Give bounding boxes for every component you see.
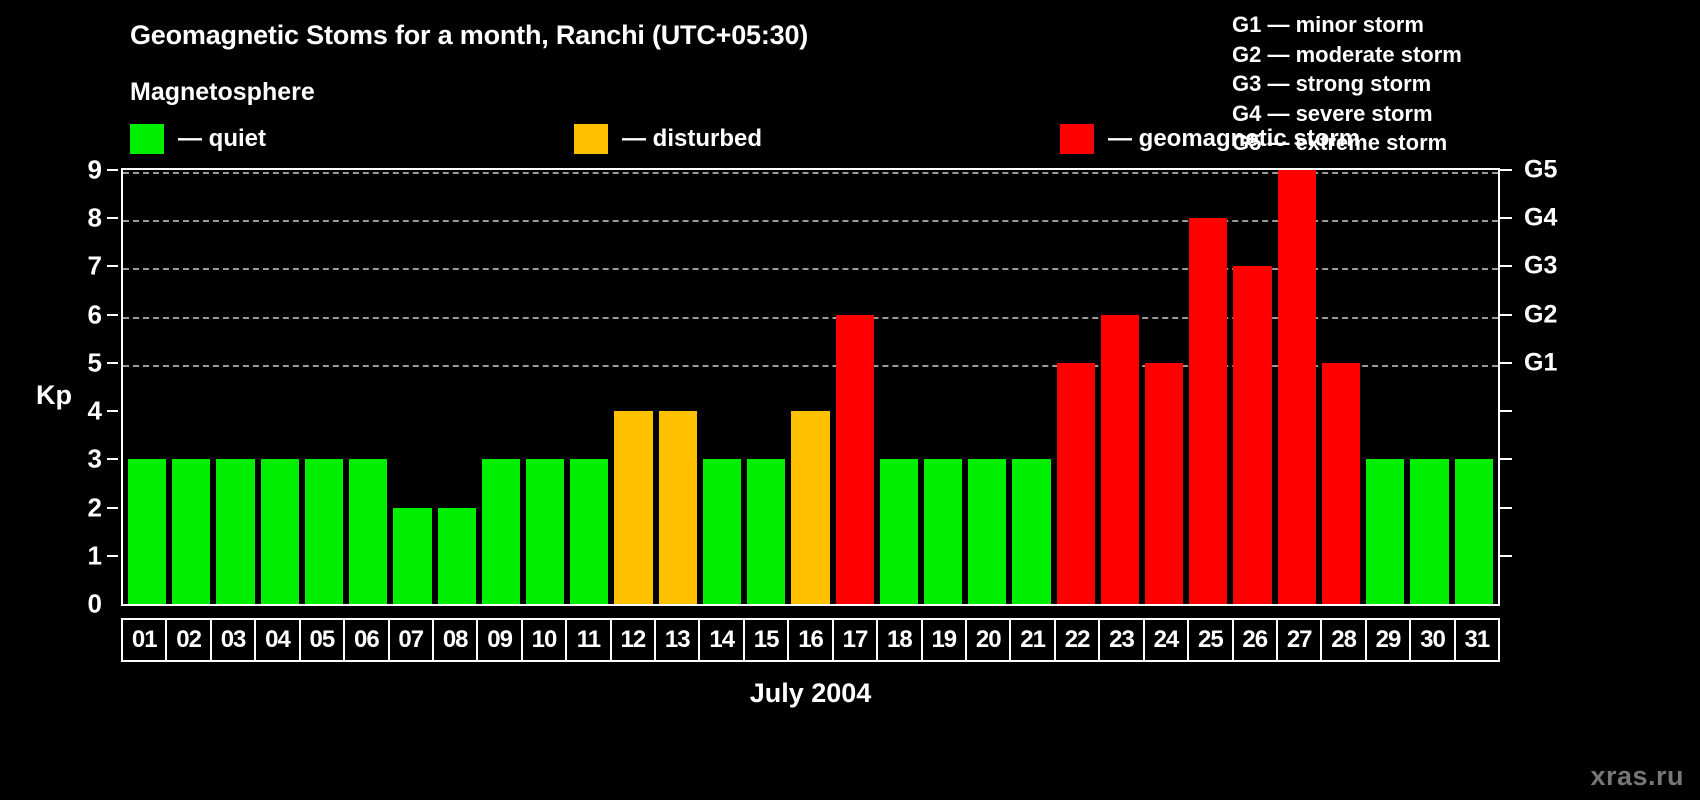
bar-day-23[interactable]: [1101, 315, 1139, 604]
bar-slot[interactable]: [1054, 170, 1098, 604]
y-tick-label-0: 0: [62, 589, 102, 620]
day-label-15[interactable]: 15: [745, 620, 789, 660]
bar-day-03[interactable]: [216, 459, 254, 604]
magnetosphere-label: Magnetosphere: [130, 78, 315, 107]
bar-day-21[interactable]: [1012, 459, 1050, 604]
bar-day-22[interactable]: [1057, 363, 1095, 604]
bar-day-01[interactable]: [128, 459, 166, 604]
storm-swatch: [1060, 124, 1094, 154]
day-label-20[interactable]: 20: [967, 620, 1011, 660]
y-tick-label-9: 9: [62, 155, 102, 186]
day-label-02[interactable]: 02: [167, 620, 211, 660]
day-label-16[interactable]: 16: [789, 620, 833, 660]
bar-day-20[interactable]: [968, 459, 1006, 604]
day-label-13[interactable]: 13: [656, 620, 700, 660]
y-tick-mark-7: [107, 265, 118, 267]
bar-day-30[interactable]: [1410, 459, 1448, 604]
bar-slot[interactable]: [1407, 170, 1451, 604]
bar-slot[interactable]: [788, 170, 832, 604]
plot-inner: [123, 170, 1498, 604]
day-label-24[interactable]: 24: [1145, 620, 1189, 660]
legend-item-disturbed: — disturbed: [574, 122, 762, 156]
bar-day-27[interactable]: [1278, 170, 1316, 604]
x-axis-days: 0102030405060708091011121314151617181920…: [121, 618, 1500, 662]
gscale-row-g5: G5 — extreme storm: [1232, 128, 1662, 158]
x-axis-label: July 2004: [121, 678, 1500, 709]
bar-slot[interactable]: [1230, 170, 1274, 604]
bar-day-06[interactable]: [349, 459, 387, 604]
bar-day-13[interactable]: [659, 411, 697, 604]
bar-slot[interactable]: [700, 170, 744, 604]
gscale-row-g2: G2 — moderate storm: [1232, 40, 1662, 70]
y-tick-mark-2: [107, 507, 118, 509]
day-label-26[interactable]: 26: [1234, 620, 1278, 660]
bar-slot[interactable]: [1186, 170, 1230, 604]
y-tick-label-6: 6: [62, 299, 102, 330]
bar-slot[interactable]: [125, 170, 169, 604]
day-label-11[interactable]: 11: [567, 620, 611, 660]
bar-slot[interactable]: [1319, 170, 1363, 604]
y-tick-label-2: 2: [62, 492, 102, 523]
bar-day-17[interactable]: [836, 315, 874, 604]
day-label-21[interactable]: 21: [1011, 620, 1055, 660]
bar-day-02[interactable]: [172, 459, 210, 604]
y-tick-mark-4: [107, 410, 118, 412]
disturbed-swatch: [574, 124, 608, 154]
bar-day-26[interactable]: [1233, 266, 1271, 604]
g-axis-tick-mark-kp-9: [1500, 169, 1512, 171]
y-tick-label-5: 5: [62, 347, 102, 378]
bar-slot[interactable]: [390, 170, 434, 604]
day-label-01[interactable]: 01: [123, 620, 167, 660]
g-axis-tick-mark-kp-4: [1500, 410, 1512, 412]
bar-slot[interactable]: [1452, 170, 1496, 604]
y-axis-label: Kp: [36, 380, 72, 411]
day-label-29[interactable]: 29: [1367, 620, 1411, 660]
day-label-09[interactable]: 09: [478, 620, 522, 660]
bar-day-28[interactable]: [1322, 363, 1360, 604]
y-tick-label-3: 3: [62, 444, 102, 475]
bar-day-10[interactable]: [526, 459, 564, 604]
bar-slot[interactable]: [523, 170, 567, 604]
y-tick-mark-5: [107, 362, 118, 364]
day-label-04[interactable]: 04: [256, 620, 300, 660]
g-axis-tick-mark-kp-3: [1500, 458, 1512, 460]
day-label-18[interactable]: 18: [878, 620, 922, 660]
day-label-12[interactable]: 12: [612, 620, 656, 660]
gscale-legend: G1 — minor stormG2 — moderate stormG3 — …: [1232, 10, 1662, 158]
day-label-28[interactable]: 28: [1322, 620, 1366, 660]
bar-day-11[interactable]: [570, 459, 608, 604]
day-label-17[interactable]: 17: [834, 620, 878, 660]
page-title: Geomagnetic Stoms for a month, Ranchi (U…: [130, 20, 808, 51]
y-tick-mark-3: [107, 458, 118, 460]
y-tick-mark-9: [107, 169, 118, 171]
y-tick-label-1: 1: [62, 540, 102, 571]
bar-day-16[interactable]: [791, 411, 829, 604]
bar-slot[interactable]: [1275, 170, 1319, 604]
bar-slot[interactable]: [877, 170, 921, 604]
bar-slot[interactable]: [1142, 170, 1186, 604]
bar-day-12[interactable]: [614, 411, 652, 604]
day-label-19[interactable]: 19: [923, 620, 967, 660]
bar-day-18[interactable]: [880, 459, 918, 604]
day-label-25[interactable]: 25: [1189, 620, 1233, 660]
day-label-08[interactable]: 08: [434, 620, 478, 660]
bar-slot[interactable]: [656, 170, 700, 604]
y-axis-gscale: G1G2G3G4G5: [1500, 168, 1620, 606]
bar-day-08[interactable]: [438, 508, 476, 604]
bar-day-24[interactable]: [1145, 363, 1183, 604]
bar-day-14[interactable]: [703, 459, 741, 604]
day-label-03[interactable]: 03: [212, 620, 256, 660]
bar-day-09[interactable]: [482, 459, 520, 604]
bar-slot[interactable]: [611, 170, 655, 604]
y-tick-mark-1: [107, 555, 118, 557]
bar-slot[interactable]: [169, 170, 213, 604]
day-label-31[interactable]: 31: [1456, 620, 1498, 660]
g-axis-tick-mark-kp-1: [1500, 555, 1512, 557]
day-label-07[interactable]: 07: [390, 620, 434, 660]
bar-slot[interactable]: [435, 170, 479, 604]
gscale-row-g4: G4 — severe storm: [1232, 99, 1662, 129]
y-tick-mark-8: [107, 217, 118, 219]
bar-slot[interactable]: [833, 170, 877, 604]
gscale-row-g3: G3 — strong storm: [1232, 69, 1662, 99]
day-label-10[interactable]: 10: [523, 620, 567, 660]
bar-day-19[interactable]: [924, 459, 962, 604]
bar-slot[interactable]: [302, 170, 346, 604]
bar-slot[interactable]: [965, 170, 1009, 604]
legend-item-label: — quiet: [178, 125, 266, 153]
bar-slot[interactable]: [921, 170, 965, 604]
bar-day-07[interactable]: [393, 508, 431, 604]
bar-slot[interactable]: [1363, 170, 1407, 604]
bar-series: [123, 170, 1498, 604]
day-label-06[interactable]: 06: [345, 620, 389, 660]
day-label-27[interactable]: 27: [1278, 620, 1322, 660]
bar-slot[interactable]: [258, 170, 302, 604]
bar-slot[interactable]: [744, 170, 788, 604]
bar-day-05[interactable]: [305, 459, 343, 604]
gscale-row-g1: G1 — minor storm: [1232, 10, 1662, 40]
quiet-swatch: [130, 124, 164, 154]
g-axis-label-g1: G1: [1524, 348, 1557, 377]
bar-day-25[interactable]: [1189, 218, 1227, 604]
g-axis-label-g3: G3: [1524, 252, 1557, 281]
day-label-22[interactable]: 22: [1056, 620, 1100, 660]
day-label-05[interactable]: 05: [301, 620, 345, 660]
bar-day-15[interactable]: [747, 459, 785, 604]
g-axis-tick-mark-kp-5: [1500, 362, 1512, 364]
legend-item-label: — disturbed: [622, 125, 762, 153]
g-axis-label-g2: G2: [1524, 300, 1557, 329]
bar-slot[interactable]: [213, 170, 257, 604]
bar-slot[interactable]: [346, 170, 390, 604]
g-axis-tick-mark-kp-6: [1500, 314, 1512, 316]
bar-slot[interactable]: [1098, 170, 1142, 604]
g-axis-tick-mark-kp-7: [1500, 265, 1512, 267]
bar-day-29[interactable]: [1366, 459, 1404, 604]
day-label-23[interactable]: 23: [1100, 620, 1144, 660]
bar-slot[interactable]: [479, 170, 523, 604]
y-tick-mark-6: [107, 314, 118, 316]
watermark: xras.ru: [1590, 761, 1684, 792]
plot-area: [121, 168, 1500, 606]
day-label-14[interactable]: 14: [700, 620, 744, 660]
day-label-30[interactable]: 30: [1411, 620, 1455, 660]
g-axis-tick-mark-kp-8: [1500, 217, 1512, 219]
legend-item-quiet: — quiet: [130, 122, 266, 156]
y-tick-label-8: 8: [62, 203, 102, 234]
bar-day-04[interactable]: [261, 459, 299, 604]
bar-slot[interactable]: [1009, 170, 1053, 604]
g-axis-label-g5: G5: [1524, 156, 1557, 185]
bar-day-31[interactable]: [1455, 459, 1493, 604]
g-axis-label-g4: G4: [1524, 204, 1557, 233]
y-tick-label-7: 7: [62, 251, 102, 282]
bar-slot[interactable]: [567, 170, 611, 604]
g-axis-tick-mark-kp-2: [1500, 507, 1512, 509]
